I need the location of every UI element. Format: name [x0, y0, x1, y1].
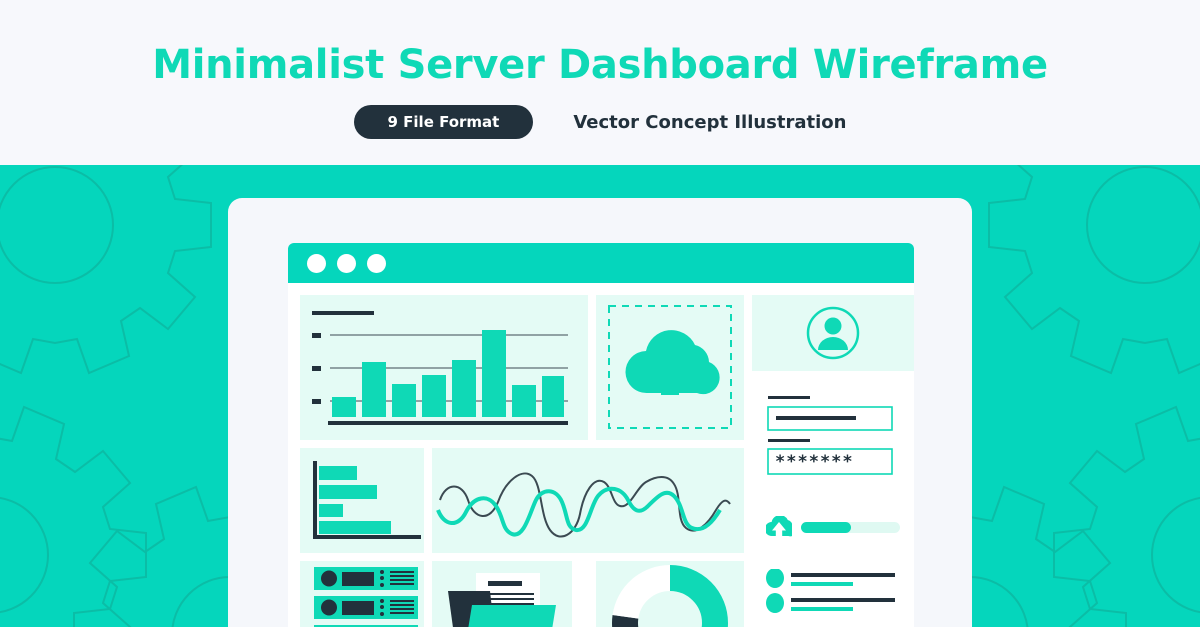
storage-progress-fill — [801, 522, 851, 533]
panel-documents[interactable] — [432, 561, 572, 627]
page-title: Minimalist Server Dashboard Wireframe — [152, 42, 1048, 88]
panel-bar-chart[interactable] — [300, 295, 588, 440]
chart-heading-bar — [312, 311, 374, 315]
bar-8 — [542, 376, 564, 417]
donut-chart-svg — [596, 561, 744, 627]
hbar-1 — [319, 466, 357, 480]
gear-icon-left-bottom — [0, 407, 146, 627]
storage-progress-track[interactable] — [801, 522, 900, 533]
contacts-list-svg — [765, 569, 901, 621]
y-axis-line — [313, 461, 317, 539]
x-axis-line — [313, 535, 421, 539]
list-item — [766, 569, 895, 588]
contact-line-primary — [791, 598, 895, 602]
folder-documents-icon — [432, 561, 572, 627]
bar-7 — [512, 385, 536, 417]
username-input-value — [776, 416, 856, 420]
bar-series — [332, 330, 564, 417]
contact-avatar-icon — [766, 569, 784, 588]
server-unit — [314, 596, 418, 619]
gear-icon-right-bottom — [1054, 407, 1200, 627]
header-subline: 9 File Format Vector Concept Illustratio… — [354, 105, 847, 139]
bar-4 — [422, 375, 446, 417]
contacts-and-mail-card: 0 — [752, 558, 914, 627]
doc-heading-line — [488, 581, 522, 586]
avatar-head — [825, 318, 842, 335]
contact-line-secondary — [791, 607, 853, 611]
bar-3 — [392, 384, 416, 417]
file-format-badge: 9 File Format — [354, 105, 534, 139]
server-power-led — [321, 571, 337, 587]
hbar-3 — [319, 504, 343, 517]
hero-stage: ******* — [0, 165, 1200, 627]
device-frame: ******* — [228, 198, 972, 627]
x-axis-line — [328, 421, 568, 425]
maximize-dot-icon[interactable] — [367, 254, 386, 273]
waveform-chart-svg — [432, 448, 736, 553]
avatar-body — [818, 337, 848, 350]
hbar-4 — [319, 521, 391, 534]
cloud-upload-icon — [766, 516, 792, 538]
contact-line-primary — [791, 573, 895, 577]
list-item — [766, 593, 895, 613]
y-tick-label-1 — [312, 399, 321, 404]
panel-donut-chart[interactable] — [596, 561, 744, 627]
upload-dropzone-svg — [596, 295, 744, 440]
storage-progress-card[interactable] — [752, 503, 914, 551]
panel-waveform-chart[interactable] — [432, 448, 744, 553]
gear-icon-left-top — [0, 165, 211, 373]
password-input-value[interactable]: ******* — [775, 452, 900, 472]
poster-header: Minimalist Server Dashboard Wireframe 9 … — [0, 0, 1200, 165]
right-sidebar: ******* — [752, 295, 914, 627]
close-dot-icon[interactable] — [307, 254, 326, 273]
user-avatar-card[interactable] — [752, 295, 914, 371]
browser-window: ******* — [288, 243, 914, 627]
panel-horizontal-bar-chart[interactable] — [300, 448, 424, 553]
minimize-dot-icon[interactable] — [337, 254, 356, 273]
panel-upload-dropzone[interactable] — [596, 295, 744, 440]
bar-chart-svg — [300, 295, 588, 440]
server-display — [342, 572, 374, 586]
gear-icon-right-top — [989, 165, 1200, 373]
bar-1 — [332, 397, 356, 417]
dashboard-grid: ******* — [288, 283, 914, 627]
poster-subtitle: Vector Concept Illustration — [573, 112, 846, 133]
folder-front — [460, 605, 556, 627]
y-tick-label-2 — [312, 366, 321, 371]
password-label — [768, 439, 810, 442]
poster-page: Minimalist Server Dashboard Wireframe 9 … — [0, 0, 1200, 627]
server-rack-icon — [300, 561, 424, 627]
y-tick-label-3 — [312, 333, 321, 338]
bar-6 — [482, 330, 506, 417]
hbar-2 — [319, 485, 377, 499]
user-avatar-icon — [805, 305, 861, 361]
bar-2 — [362, 362, 386, 417]
login-form-card[interactable]: ******* — [752, 378, 914, 496]
server-unit — [314, 567, 418, 590]
browser-titlebar — [288, 243, 914, 283]
contact-line-secondary — [791, 582, 853, 586]
cloud-upload-icon — [625, 330, 719, 395]
horizontal-bar-series — [319, 466, 391, 534]
bar-5 — [452, 360, 476, 417]
panel-server-rack[interactable] — [300, 561, 424, 627]
horizontal-bar-chart-svg — [300, 448, 424, 553]
contact-avatar-icon — [766, 593, 784, 613]
username-label — [768, 396, 810, 399]
